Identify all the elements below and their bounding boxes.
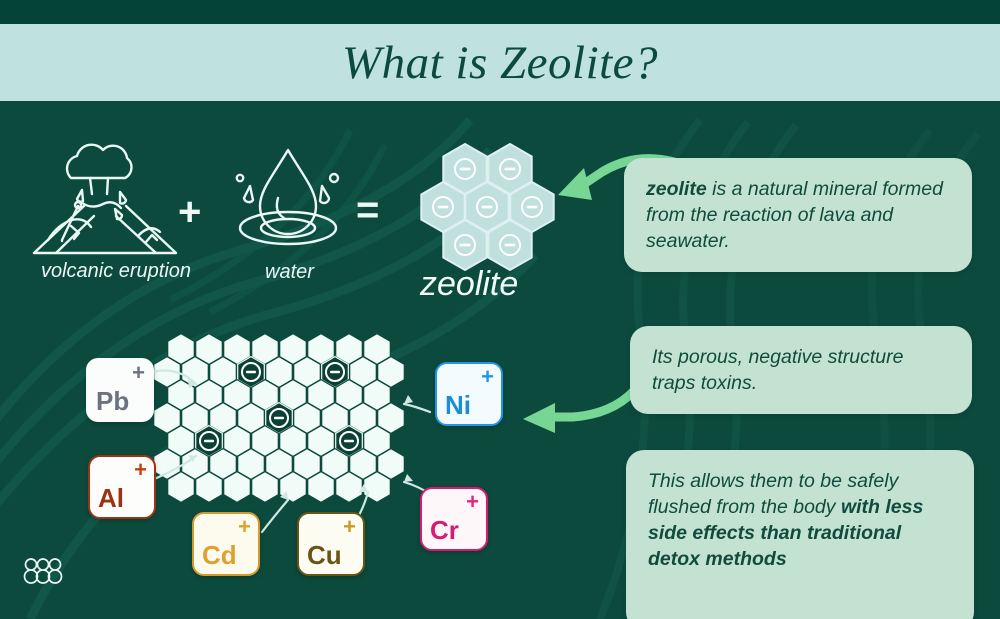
element-symbol-cr: Cr [430,515,459,546]
callout-card-structure: Its porous, negative structure traps tox… [630,326,972,414]
zeolite-hex-cluster-icon [418,140,558,275]
element-charge-pb: + [132,362,145,384]
callout-2-text: Its porous, negative structure traps tox… [652,346,903,394]
callout-card-definition: zeolite is a natural mineral formed from… [624,158,972,272]
element-card-pb[interactable]: + Pb [86,358,154,422]
top-accent-strip [0,0,1000,24]
element-symbol-ni: Ni [445,390,471,421]
element-symbol-pb: Pb [96,386,129,417]
triple-loop-logo [20,553,66,589]
element-charge-ni: + [481,366,494,388]
element-card-cu[interactable]: + Cu [297,512,365,576]
zeolite-caption: zeolite [420,265,518,304]
water-caption: water [222,261,357,284]
header-band: What is Zeolite? [0,24,1000,101]
element-card-cd[interactable]: + Cd [192,512,260,576]
element-charge-al: + [134,459,147,481]
element-charge-cr: + [466,491,479,513]
callout-1-bold-lead: zeolite [646,178,707,200]
element-card-al[interactable]: + Al [88,455,156,519]
equals-operator: = [356,190,379,230]
plus-operator: + [178,192,201,232]
water-group: water [222,136,357,284]
element-card-cr[interactable]: + Cr [420,487,488,551]
page-title: What is Zeolite? [342,36,658,90]
water-drop-icon [222,136,357,261]
infographic-canvas: What is Zeolite? [0,0,1000,619]
element-charge-cd: + [238,516,251,538]
element-charge-cu: + [343,516,356,538]
element-symbol-al: Al [98,483,124,514]
volcano-caption: volcanic eruption [16,260,216,283]
element-symbol-cd: Cd [202,540,237,571]
element-card-ni[interactable]: + Ni [435,362,503,426]
element-symbol-cu: Cu [307,540,342,571]
callout-card-detox: This allows them to be safely flushed fr… [626,450,974,619]
brand-logo[interactable] [20,553,66,589]
